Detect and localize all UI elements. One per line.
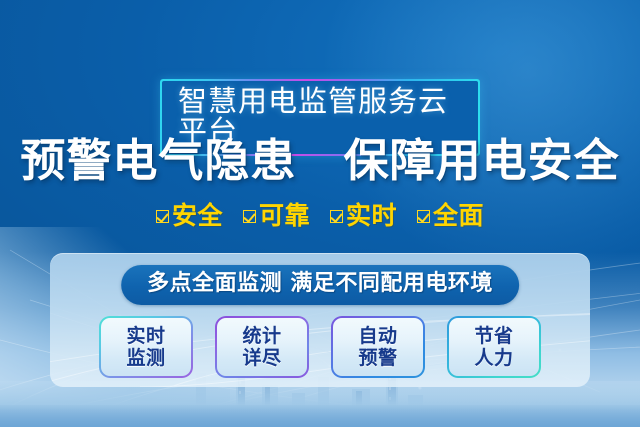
feature-check-item: 安全 [156, 202, 223, 229]
headline-left-text: 预警电气隐患 [20, 134, 296, 187]
feature-check-item: 可靠 [243, 202, 310, 229]
feature-card-line2: 监测 [126, 348, 165, 369]
checkbox-checked-icon [156, 210, 169, 223]
checkbox-checked-icon [330, 210, 343, 223]
feature-card-realtime-monitoring[interactable]: 实时 监测 [99, 316, 193, 378]
background-bottom-strip-inner [0, 405, 640, 427]
feature-card-line2: 详尽 [242, 348, 281, 369]
feature-card-automatic-alarm[interactable]: 自动 预警 [331, 316, 425, 378]
feature-card-row: 实时 监测 统计 详尽 自动 预警 节省 人力 [50, 316, 590, 378]
subtitle-banner-text: 多点全面监测 满足不同配用电环境 [147, 272, 493, 296]
feature-card-inner: 实时 监测 [101, 318, 191, 376]
feature-check-item: 实时 [330, 202, 397, 229]
poster-canvas: 智慧用电监管服务云平台 预警电气隐患 保障用电安全 安全 可靠 实时 全面 [0, 0, 640, 427]
feature-card-inner: 统计 详尽 [217, 318, 307, 376]
headline-right-text: 保障用电安全 [344, 134, 620, 187]
feature-card-line2: 预警 [358, 348, 397, 369]
feature-check-item: 全面 [417, 202, 484, 229]
feature-card-line2: 人力 [474, 348, 513, 369]
feature-card-labor-saving[interactable]: 节省 人力 [447, 316, 541, 378]
subtitle-banner-pill: 多点全面监测 满足不同配用电环境 [121, 265, 519, 305]
feature-card-inner: 节省 人力 [449, 318, 539, 376]
feature-card-detailed-statistics[interactable]: 统计 详尽 [215, 316, 309, 378]
feature-check-row: 安全 可靠 实时 全面 [0, 202, 640, 229]
feature-check-label: 实时 [346, 202, 397, 229]
feature-check-label: 安全 [172, 202, 223, 229]
headline: 预警电气隐患 保障用电安全 [0, 136, 640, 186]
feature-card-inner: 自动 预警 [333, 318, 423, 376]
checkbox-checked-icon [243, 210, 256, 223]
checkbox-checked-icon [417, 210, 430, 223]
feature-card-line1: 实时 [126, 326, 165, 347]
feature-card-line1: 自动 [358, 326, 397, 347]
feature-check-label: 全面 [433, 202, 484, 229]
feature-card-line1: 统计 [242, 326, 281, 347]
feature-check-label: 可靠 [259, 202, 310, 229]
feature-card-line1: 节省 [474, 326, 513, 347]
